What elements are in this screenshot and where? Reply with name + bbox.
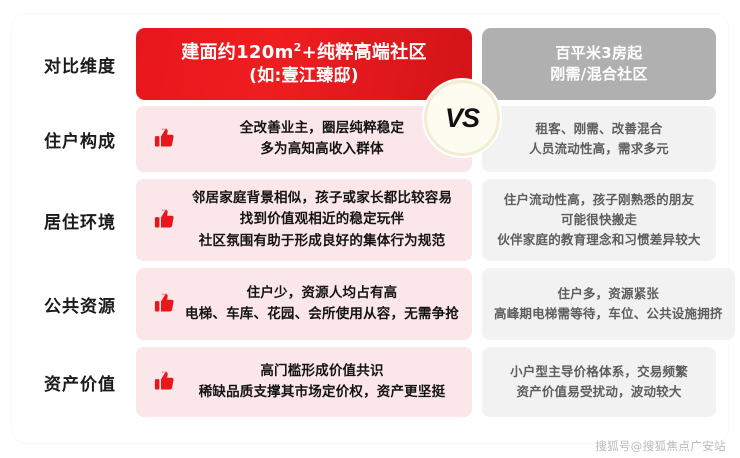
standard-text-line: 住户多，资源紧张 [494, 284, 723, 304]
standard-text-line: 人员流动性高，需求多元 [529, 139, 669, 159]
page-title: 对比维度 [44, 52, 116, 77]
standard-text-line: 可能很快搬走 [497, 210, 700, 230]
standard-text-line: 租客、刚需、改善混合 [529, 119, 669, 139]
table-row: 居住环境 邻居家庭背景相似，孩子或家长都比较容易 找到价值观相近的稳定玩伴 社区… [24, 179, 716, 261]
thumbs-up-icon [144, 207, 184, 233]
premium-text-line: 电梯、车库、花园、会所使用从容，无需争抢 [184, 304, 460, 325]
standard-text-line: 伙伴家庭的教育理念和习惯差异较大 [497, 230, 700, 250]
thumbs-up-icon [144, 291, 184, 317]
table-row: 公共资源 住户少，资源人均占有高 电梯、车库、花园、会所使用从容，无需争抢 [24, 268, 716, 340]
table-header-row: 对比维度 建面约120m2+纯粹高端社区 (如:壹江臻邸) 百平米3房起 刚需/… [24, 28, 716, 100]
row-label-cell: 住户构成 [24, 106, 136, 172]
premium-text-line: 社区氛围有助于形成良好的集体行为规范 [184, 231, 460, 252]
premium-text: 高门槛形成价值共识 稀缺品质支撑其市场定价权，资产更坚挺 [184, 361, 460, 404]
row-label-cell: 公共资源 [24, 268, 136, 340]
row-label-cell: 资产价值 [24, 347, 136, 417]
header-cell-premium: 建面约120m2+纯粹高端社区 (如:壹江臻邸) [136, 28, 472, 100]
premium-text-line: 稀缺品质支撑其市场定价权，资产更坚挺 [184, 382, 460, 403]
header-standard-line1: 百平米3房起 [550, 43, 648, 64]
standard-cell: 小户型主导价格体系，交易频繁 资产价值易受扰动，波动较大 [482, 347, 716, 417]
header-premium-line2: (如:壹江臻邸) [181, 65, 427, 87]
standard-text: 租客、刚需、改善混合 人员流动性高，需求多元 [529, 119, 669, 159]
standard-text-line: 住户流动性高，孩子刚熟悉的朋友 [497, 190, 700, 210]
row-label-cell: 居住环境 [24, 179, 136, 261]
standard-text-line: 小户型主导价格体系，交易频繁 [510, 362, 688, 382]
premium-cell: 全改善业主，圈层纯粹稳定 多为高知高收入群体 [136, 106, 472, 172]
premium-cell: 高门槛形成价值共识 稀缺品质支撑其市场定价权，资产更坚挺 [136, 347, 472, 417]
premium-text-line: 全改善业主，圈层纯粹稳定 [184, 118, 460, 139]
header-cell-standard: 百平米3房起 刚需/混合社区 [482, 28, 716, 100]
thumbs-up-icon [144, 369, 184, 395]
standard-cell: 住户流动性高，孩子刚熟悉的朋友 可能很快搬走 伙伴家庭的教育理念和习惯差异较大 [482, 179, 716, 261]
source-watermark: 搜狐号@搜狐焦点广安站 [595, 438, 726, 454]
dimension-label: 公共资源 [44, 292, 116, 317]
standard-text-line: 资产价值易受扰动，波动较大 [510, 382, 688, 402]
premium-text-line: 多为高知高收入群体 [184, 139, 460, 160]
standard-text-line: 高峰期电梯需等待，车位、公共设施拥挤 [494, 304, 723, 324]
premium-text: 全改善业主，圈层纯粹稳定 多为高知高收入群体 [184, 118, 460, 161]
premium-text-line: 住户少，资源人均占有高 [184, 283, 460, 304]
watermark-text: 搜狐号@搜狐焦点广安站 [595, 438, 726, 454]
premium-cell: 邻居家庭背景相似，孩子或家长都比较容易 找到价值观相近的稳定玩伴 社区氛围有助于… [136, 179, 472, 261]
standard-text: 住户多，资源紧张 高峰期电梯需等待，车位、公共设施拥挤 [494, 284, 723, 324]
comparison-infographic: 对比维度 建面约120m2+纯粹高端社区 (如:壹江臻邸) 百平米3房起 刚需/… [0, 0, 740, 458]
thumbs-up-icon [144, 126, 184, 152]
vs-badge: VS [424, 80, 500, 156]
comparison-table: 对比维度 建面约120m2+纯粹高端社区 (如:壹江臻邸) 百平米3房起 刚需/… [12, 14, 728, 443]
standard-text: 小户型主导价格体系，交易频繁 资产价值易受扰动，波动较大 [510, 362, 688, 402]
header-standard-line2: 刚需/混合社区 [550, 64, 648, 85]
table-row: 住户构成 全改善业主，圈层纯粹稳定 多为高知高收入群体 租客、刚需、改善 [24, 106, 716, 172]
standard-text: 住户流动性高，孩子刚熟悉的朋友 可能很快搬走 伙伴家庭的教育理念和习惯差异较大 [497, 190, 700, 250]
header-premium-line1: 建面约120m2+纯粹高端社区 [181, 41, 427, 65]
standard-cell: 住户多，资源紧张 高峰期电梯需等待，车位、公共设施拥挤 [482, 268, 735, 340]
table-row: 资产价值 高门槛形成价值共识 稀缺品质支撑其市场定价权，资产更坚挺 小户 [24, 347, 716, 417]
premium-text: 邻居家庭背景相似，孩子或家长都比较容易 找到价值观相近的稳定玩伴 社区氛围有助于… [184, 188, 460, 252]
premium-text-line: 找到价值观相近的稳定玩伴 [184, 209, 460, 230]
premium-cell: 住户少，资源人均占有高 电梯、车库、花园、会所使用从容，无需争抢 [136, 268, 472, 340]
premium-text-line: 邻居家庭背景相似，孩子或家长都比较容易 [184, 188, 460, 209]
dimension-label: 住户构成 [44, 127, 116, 152]
header-label-cell: 对比维度 [24, 28, 136, 100]
standard-cell: 租客、刚需、改善混合 人员流动性高，需求多元 [482, 106, 716, 172]
premium-text: 住户少，资源人均占有高 电梯、车库、花园、会所使用从容，无需争抢 [184, 283, 460, 326]
dimension-label: 居住环境 [44, 208, 116, 233]
vs-badge-label: VS [445, 103, 479, 134]
header-superscript: 2 [294, 41, 302, 54]
premium-text-line: 高门槛形成价值共识 [184, 361, 460, 382]
dimension-label: 资产价值 [44, 370, 116, 395]
